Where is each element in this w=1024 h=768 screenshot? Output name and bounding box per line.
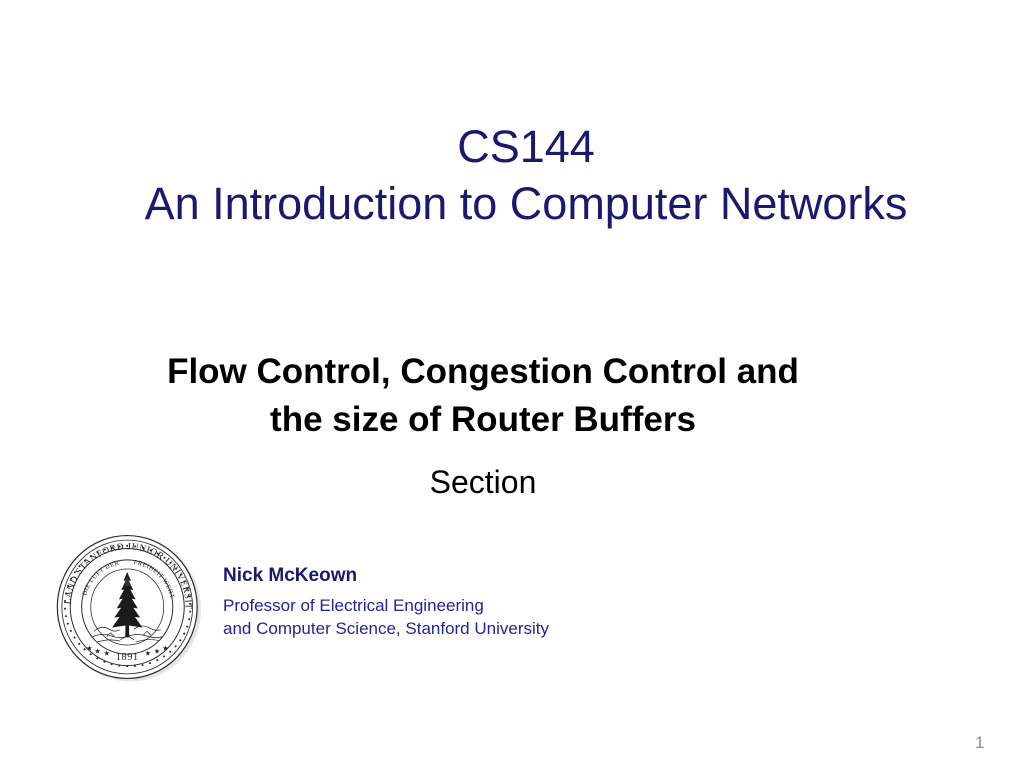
slide-canvas: CS144 An Introduction to Computer Networ… xyxy=(0,0,1024,768)
author-affiliation-line-1: Professor of Electrical Engineering xyxy=(223,588,693,617)
title-line-course-name: An Introduction to Computer Networks xyxy=(0,175,1024,232)
author-name: Nick McKeown xyxy=(223,563,693,588)
section-label: Section xyxy=(0,462,966,502)
seal-star-right-3: ★ xyxy=(162,644,168,652)
slide-title: CS144 An Introduction to Computer Networ… xyxy=(0,118,1024,232)
slide-subtitle: Flow Control, Congestion Control and the… xyxy=(0,348,966,444)
stanford-university-seal-icon: LELAND STANFORD JUNIOR UNIVERSITY DIE LU… xyxy=(52,531,204,683)
author-affiliation-line-2: and Computer Science, Stanford Universit… xyxy=(223,617,693,640)
title-line-course-code: CS144 xyxy=(0,118,1024,175)
seal-star-left-3: ★ xyxy=(104,650,110,658)
seal-year: 1891 xyxy=(116,652,139,663)
subtitle-line-1: Flow Control, Congestion Control and xyxy=(0,348,966,396)
page-number: 1 xyxy=(975,733,1015,753)
author-credit-block: Nick McKeown Professor of Electrical Eng… xyxy=(223,563,693,640)
seal-star-right-1: ★ xyxy=(145,650,151,658)
seal-star-left-2: ★ xyxy=(95,647,101,655)
seal-svg: LELAND STANFORD JUNIOR UNIVERSITY DIE LU… xyxy=(52,531,204,683)
subtitle-line-2: the size of Router Buffers xyxy=(0,396,966,444)
seal-star-left-1: ★ xyxy=(86,644,92,652)
seal-star-right-2: ★ xyxy=(154,647,160,655)
